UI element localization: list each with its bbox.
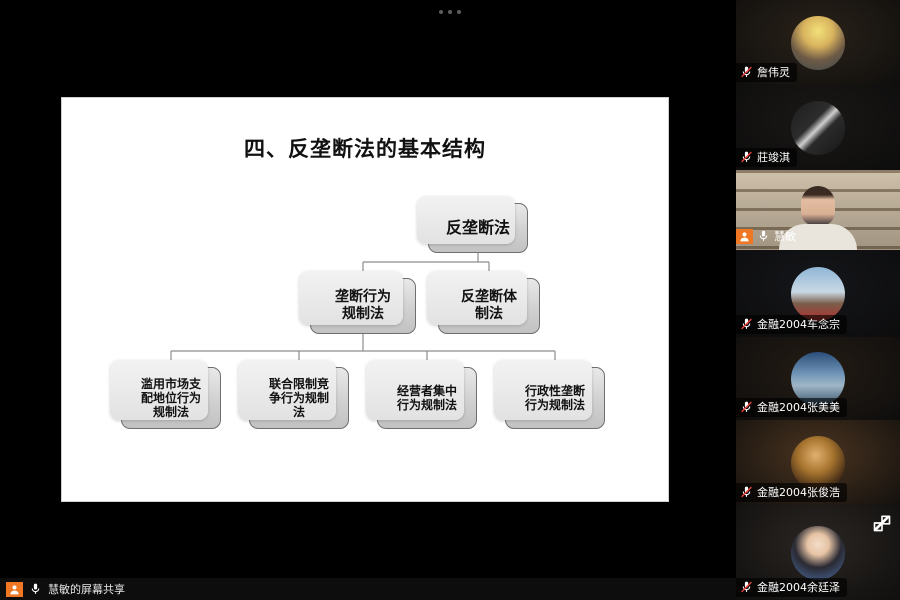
avatar: [791, 16, 845, 70]
host-badge: [6, 582, 23, 597]
chart-node-label: 联合限制竞争行为规制法: [265, 377, 333, 419]
participant-name-bar: 詹伟灵: [736, 63, 797, 82]
microphone-muted-icon: [740, 400, 753, 414]
participant-name: 金融2004张俊浩: [757, 484, 840, 500]
expand-icon[interactable]: [872, 513, 892, 533]
org-chart: 反垄断法垄断行为规制法反垄断体制法滥用市场支配地位行为规制法联合限制竞争行为规制…: [62, 98, 670, 503]
more-options-icon[interactable]: [424, 4, 476, 20]
chart-node-l3a: 滥用市场支配地位行为规制法: [121, 367, 221, 429]
chart-node-label: 反垄断法: [442, 219, 514, 238]
meeting-window: 四、反垄断法的基本结构 反垄断法垄断行为规制法反垄断体制法滥用市场支配地位行为规…: [0, 0, 900, 600]
chart-node-root: 反垄断法: [428, 203, 528, 253]
host-badge: [736, 229, 753, 244]
participant-name-bar: 金融2004余廷泽: [736, 578, 847, 597]
participant-rail: 詹伟灵莊竣淇慧敏金融2004车念宗金融2004张美美金融2004张俊浩金融200…: [736, 0, 900, 600]
chart-node-l3b: 联合限制竞争行为规制法: [249, 367, 349, 429]
chart-node-label: 行政性垄断行为规制法: [521, 384, 589, 412]
participant-silhouette: [801, 186, 835, 226]
participant-name: 金融2004余廷泽: [757, 579, 840, 595]
participant-tile[interactable]: 金融2004张美美: [736, 337, 900, 420]
microphone-muted-icon: [740, 485, 753, 499]
avatar-image: [791, 526, 845, 580]
screen-share-status-bar: 慧敏的屏幕共享: [0, 578, 736, 600]
microphone-icon: [757, 229, 770, 243]
screen-share-stage: 四、反垄断法的基本结构 反垄断法垄断行为规制法反垄断体制法滥用市场支配地位行为规…: [0, 0, 736, 600]
participant-tile[interactable]: 金融2004车念宗: [736, 250, 900, 337]
chart-node-label: 垄断行为规制法: [331, 289, 395, 322]
avatar-image: [791, 101, 845, 155]
microphone-muted-icon: [740, 317, 753, 331]
avatar: [791, 436, 845, 490]
participant-name-bar: 莊竣淇: [736, 148, 797, 167]
microphone-muted-icon: [740, 150, 753, 164]
participant-name-bar: 金融2004车念宗: [736, 315, 847, 334]
avatar: [791, 526, 845, 580]
participant-tile[interactable]: 詹伟灵: [736, 0, 900, 85]
participant-tile[interactable]: 金融2004张俊浩: [736, 420, 900, 505]
screen-share-owner-label: 慧敏的屏幕共享: [48, 581, 125, 597]
participant-tile[interactable]: 慧敏: [736, 170, 900, 250]
participant-name-bar: 慧敏: [736, 227, 803, 246]
microphone-muted-icon: [740, 65, 753, 79]
participant-tile[interactable]: 金融2004余廷泽: [736, 505, 900, 600]
chart-node-label: 反垄断体制法: [457, 289, 521, 322]
participant-name-bar: 金融2004张美美: [736, 398, 847, 417]
chart-node-l3d: 行政性垄断行为规制法: [505, 367, 605, 429]
shared-slide[interactable]: 四、反垄断法的基本结构 反垄断法垄断行为规制法反垄断体制法滥用市场支配地位行为规…: [61, 97, 669, 502]
chart-node-label: 经营者集中行为规制法: [393, 384, 461, 412]
participant-name: 金融2004张美美: [757, 399, 840, 415]
avatar-image: [791, 16, 845, 70]
avatar: [791, 101, 845, 155]
chart-node-l3c: 经营者集中行为规制法: [377, 367, 477, 429]
avatar-image: [791, 267, 845, 321]
avatar: [791, 267, 845, 321]
participant-tile[interactable]: 莊竣淇: [736, 85, 900, 170]
participant-name: 莊竣淇: [757, 149, 790, 165]
microphone-icon: [29, 582, 42, 596]
participant-name: 金融2004车念宗: [757, 316, 840, 332]
chart-node-l2b: 反垄断体制法: [438, 278, 540, 334]
chart-node-label: 滥用市场支配地位行为规制法: [137, 377, 205, 419]
participant-name: 詹伟灵: [757, 64, 790, 80]
avatar-image: [791, 436, 845, 490]
participant-name-bar: 金融2004张俊浩: [736, 483, 847, 502]
microphone-muted-icon: [740, 580, 753, 594]
chart-node-l2a: 垄断行为规制法: [310, 278, 416, 334]
participant-name: 慧敏: [774, 228, 796, 244]
